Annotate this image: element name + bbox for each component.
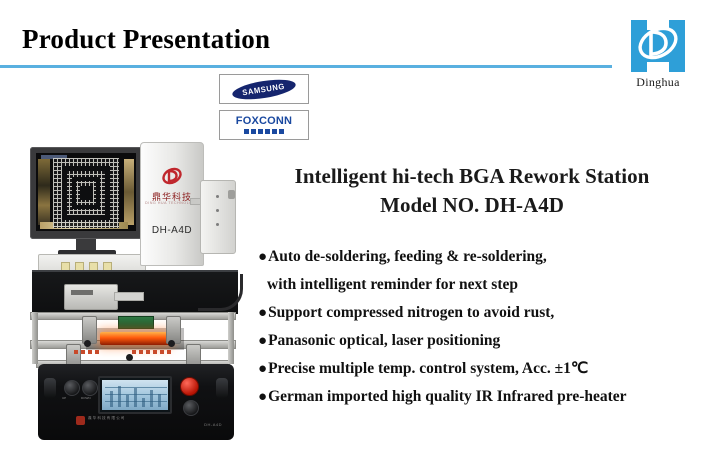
bullet-dot: ● xyxy=(258,305,267,321)
deck-led-row xyxy=(132,350,171,354)
dinghua-brand: Dinghua xyxy=(627,18,689,94)
headline-line-2: Model NO. DH-A4D xyxy=(232,191,712,220)
samsung-label: SAMSUNG xyxy=(242,81,286,97)
list-item: ●Panasonic optical, laser positioning xyxy=(258,327,713,355)
tower-model-label: DH-A4D xyxy=(141,225,203,236)
bullet-text: Support compressed nitrogen to avoid rus… xyxy=(268,304,554,321)
bga-ring xyxy=(105,166,110,220)
base-contact-text: 鼎华科技有限公司 xyxy=(88,416,126,421)
head-connector xyxy=(228,190,235,199)
headline-line-1: Intelligent hi-tech BGA Rework Station xyxy=(232,162,712,191)
bullet-text: Auto de-soldering, feeding & re-solderin… xyxy=(268,248,547,265)
product-headline: Intelligent hi-tech BGA Rework Station M… xyxy=(232,162,712,220)
base-model-label: DH-A4D xyxy=(204,422,222,427)
pcb-edge-left xyxy=(38,159,50,225)
dinghua-logo-icon xyxy=(161,167,183,187)
bullet-text: Panasonic optical, laser positioning xyxy=(268,332,500,349)
page-title: Product Presentation xyxy=(22,24,270,55)
foxconn-logo-icon: FOXCONN xyxy=(236,116,292,134)
bullet-dot: ● xyxy=(258,249,267,265)
bga-ring xyxy=(62,215,110,220)
bga-ring xyxy=(62,166,67,220)
base-brand-icon xyxy=(76,416,85,425)
samsung-logo-box: SAMSUNG xyxy=(219,74,309,104)
lcd-screen xyxy=(102,380,168,410)
foxconn-logo-box: FOXCONN xyxy=(219,110,309,140)
samsung-logo-icon: SAMSUNG xyxy=(231,76,297,103)
base-unit: UP DOWN 鼎华科技有限公司 DH-A4D xyxy=(38,364,234,440)
bga-ring xyxy=(62,166,110,171)
feeder-arm xyxy=(114,292,144,301)
lcd-control-panel[interactable] xyxy=(98,376,172,414)
clamp-knob xyxy=(168,340,175,347)
rail-post xyxy=(32,312,38,364)
bullet-text: with intelligent reminder for next step xyxy=(267,276,518,293)
bullet-text: Precise multiple temp. control system, A… xyxy=(268,360,588,377)
foxconn-sub-mark xyxy=(236,129,292,134)
bullet-dot: ● xyxy=(258,389,267,405)
ir-heater-glow xyxy=(100,332,170,345)
head-indicators xyxy=(216,195,219,237)
feeder-slot xyxy=(71,290,93,295)
side-switch[interactable] xyxy=(44,378,56,398)
pcb-board xyxy=(118,316,154,329)
list-item: ●Auto de-soldering, feeding & re-solderi… xyxy=(258,243,713,271)
bullet-text: German imported high quality IR Infrared… xyxy=(268,388,627,405)
clamp-knob xyxy=(84,340,91,347)
control-knob[interactable] xyxy=(82,380,98,396)
side-switch[interactable] xyxy=(216,378,228,398)
slide-root: Product Presentation Dinghua SAMSUNG FOX… xyxy=(0,0,721,460)
dinghua-logo-icon xyxy=(629,18,687,74)
control-knob[interactable] xyxy=(183,400,199,416)
clamp-knob xyxy=(126,354,133,361)
monitor-screen xyxy=(36,153,136,231)
product-photo: 鼎华科技 DING HUA TECHNOLOGY DH-A4D xyxy=(22,142,242,446)
gantry-rails xyxy=(26,310,238,372)
bullet-dot: ● xyxy=(258,333,267,349)
rail-post xyxy=(228,312,234,364)
feeder-module xyxy=(64,284,118,310)
control-knob[interactable] xyxy=(64,380,80,396)
bullet-dot: ● xyxy=(258,361,267,377)
list-item: ●Support compressed nitrogen to avoid ru… xyxy=(258,299,713,327)
bga-ring xyxy=(72,205,100,209)
feature-list: ●Auto de-soldering, feeding & re-solderi… xyxy=(258,243,713,411)
bga-center xyxy=(80,186,93,200)
list-item: ●German imported high quality IR Infrare… xyxy=(258,383,713,411)
deck-led-row xyxy=(74,350,99,354)
pcb-edge-right xyxy=(124,159,134,225)
foxconn-label: FOXCONN xyxy=(236,116,292,127)
list-item: with intelligent reminder for next step xyxy=(258,271,713,299)
title-divider xyxy=(0,65,612,68)
emergency-stop-button[interactable] xyxy=(180,377,199,396)
monitor xyxy=(30,147,142,239)
dinghua-brand-name: Dinghua xyxy=(627,75,689,90)
list-item: ●Precise multiple temp. control system, … xyxy=(258,355,713,383)
